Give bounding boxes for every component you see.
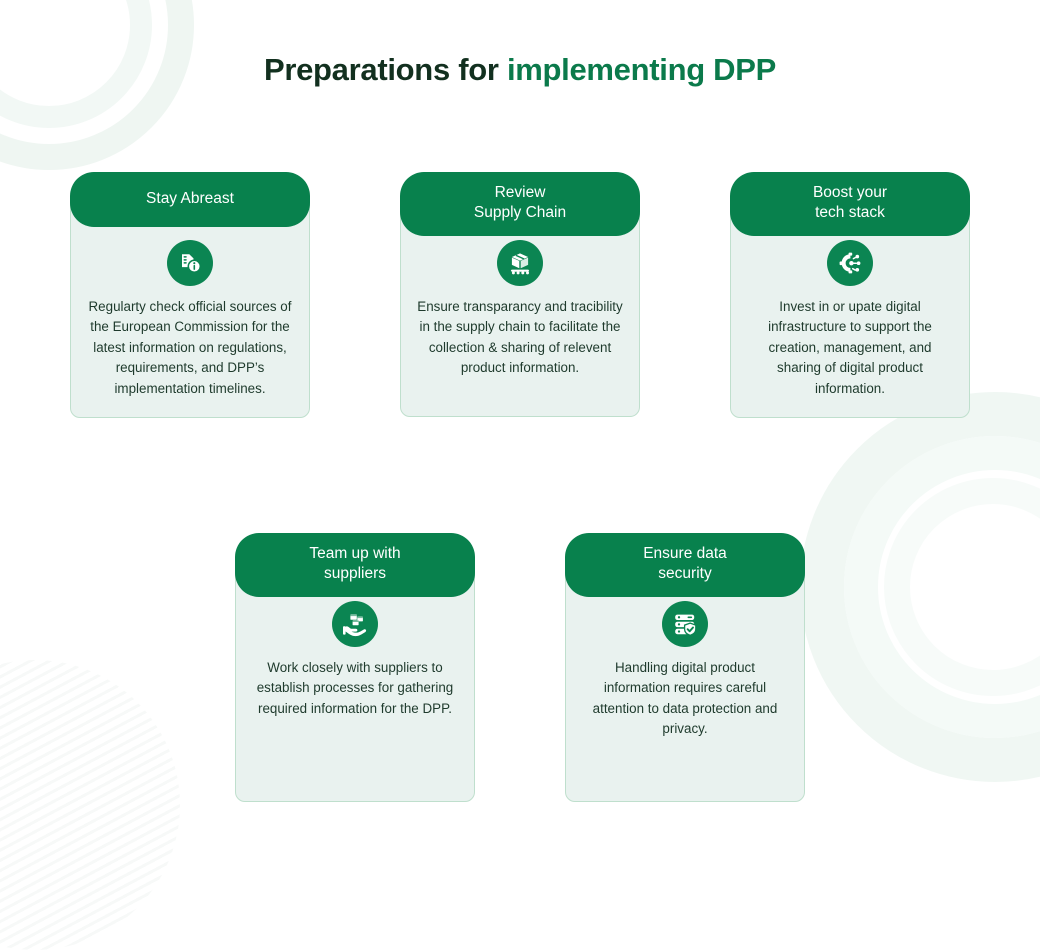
document-info-icon — [167, 240, 213, 286]
card-description: Regularty check official sources of the … — [87, 297, 293, 399]
box-conveyor-icon — [497, 240, 543, 286]
card-description: Handling digital product information req… — [582, 658, 788, 740]
page-title: Preparations for implementing DPP — [0, 52, 1040, 88]
infographic-root: Preparations for implementing DPP Regula… — [0, 0, 1040, 904]
card-header: Boost your tech stack — [730, 172, 970, 236]
card-description: Ensure transparancy and tracibility in t… — [417, 297, 623, 379]
card-header: Team up with suppliers — [235, 533, 475, 597]
card-header: Review Supply Chain — [400, 172, 640, 236]
page-title-accent: implementing DPP — [507, 52, 776, 87]
card-header: Ensure data security — [565, 533, 805, 597]
card-header: Stay Abreast — [70, 172, 310, 227]
server-shield-check-icon — [662, 601, 708, 647]
hand-boxes-icon — [332, 601, 378, 647]
card-description: Work closely with suppliers to establish… — [252, 658, 458, 719]
card-description: Invest in or upate digital infrastructur… — [747, 297, 953, 399]
page-title-lead: Preparations for — [264, 52, 507, 87]
gear-network-icon — [827, 240, 873, 286]
card-body: Regularty check official sources of the … — [70, 194, 310, 418]
